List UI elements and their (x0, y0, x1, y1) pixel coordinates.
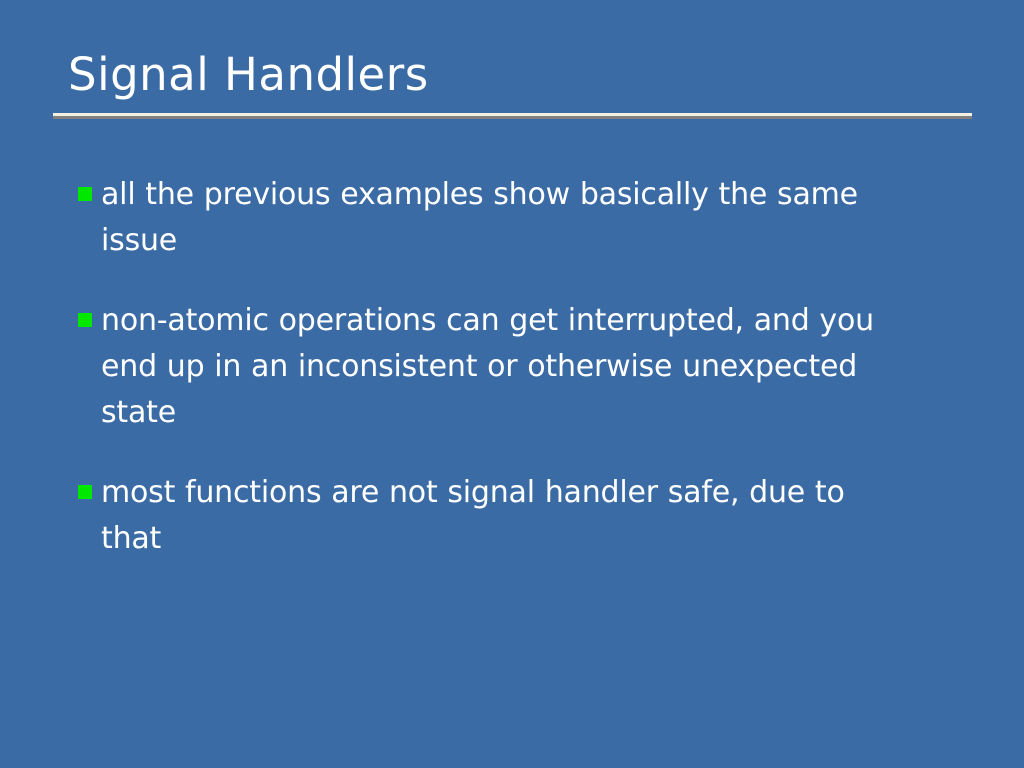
list-item-label: most functions are not signal handler sa… (101, 470, 908, 562)
list-item: all the previous examples show basically… (78, 172, 908, 264)
list-item-label: non-atomic operations can get interrupte… (101, 298, 908, 436)
list-item: most functions are not signal handler sa… (78, 470, 908, 562)
title-divider-shadow (53, 116, 972, 119)
list-item-label: all the previous examples show basically… (101, 172, 908, 264)
title-divider (53, 113, 972, 119)
presentation-slide: Signal Handlers all the previous example… (0, 0, 1024, 768)
bullet-list: all the previous examples show basically… (78, 172, 908, 562)
green-square-bullet-icon (78, 313, 92, 327)
list-item: non-atomic operations can get interrupte… (78, 298, 908, 436)
green-square-bullet-icon (78, 187, 92, 201)
green-square-bullet-icon (78, 485, 92, 499)
slide-title-block: Signal Handlers (53, 44, 972, 106)
page-title: Signal Handlers (53, 44, 972, 106)
